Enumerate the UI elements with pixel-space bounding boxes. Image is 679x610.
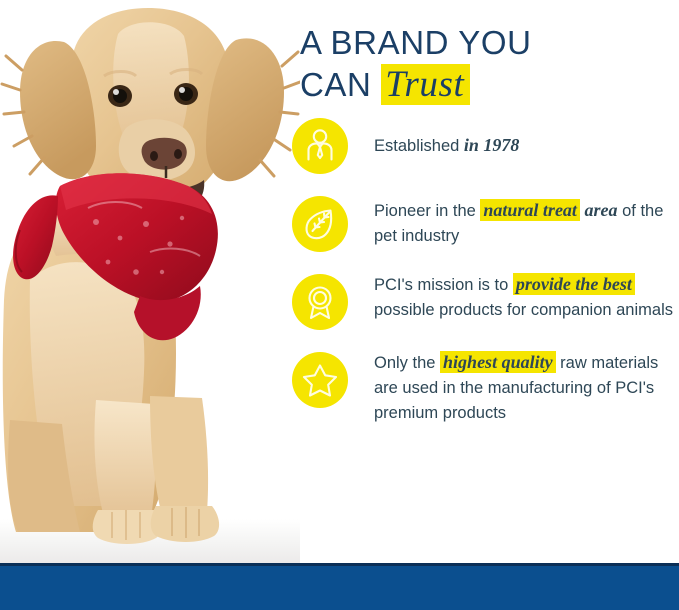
- award-ribbon-icon: [292, 274, 348, 330]
- headline-line-1: A BRAND YOU: [300, 22, 679, 64]
- feature-2-part-0: Pioneer in the: [374, 202, 480, 220]
- page-title: A BRAND YOU CAN Trust: [300, 22, 679, 106]
- feature-4-part-1: highest quality: [440, 351, 556, 373]
- content-column: A BRAND YOU CAN Trust E: [292, 0, 679, 563]
- feature-text-mission: PCI's mission is to provide the best pos…: [374, 272, 679, 323]
- brand-infographic-poster: A BRAND YOU CAN Trust E: [0, 0, 679, 610]
- feature-3-part-1: provide the best: [513, 273, 635, 295]
- feature-item-quality: Only the highest quality raw materials a…: [292, 350, 679, 426]
- feature-4-part-0: Only the: [374, 354, 440, 372]
- feature-text-pioneer: Pioneer in the natural treat area of the…: [374, 194, 679, 249]
- feature-1-part-0: Established: [374, 137, 464, 155]
- headline-line-2: CAN Trust: [300, 64, 679, 106]
- feature-3-part-0: PCI's mission is to: [374, 276, 513, 294]
- headline-line-2-prefix: CAN: [300, 66, 381, 103]
- feature-1-part-1: in 1978: [464, 135, 520, 155]
- feature-3-part-2: possible products for companion animals: [374, 301, 673, 319]
- feature-list: Established in 1978 Pioneer in the natu: [292, 118, 679, 440]
- feature-item-mission: PCI's mission is to provide the best pos…: [292, 272, 679, 330]
- feature-text-established: Established in 1978: [374, 118, 679, 159]
- leaf-icon: [292, 196, 348, 252]
- feature-item-pioneer: Pioneer in the natural treat area of the…: [292, 194, 679, 252]
- puppy-photo: [0, 0, 300, 563]
- feature-item-established: Established in 1978: [292, 118, 679, 174]
- person-tie-icon: [292, 118, 348, 174]
- star-icon: [292, 352, 348, 408]
- feature-2-part-1: natural treat: [480, 199, 580, 221]
- bottom-brand-bar: [0, 566, 679, 610]
- feature-text-quality: Only the highest quality raw materials a…: [374, 350, 679, 426]
- puppy-photo-pane: [0, 0, 300, 563]
- headline-trust-highlight: Trust: [381, 64, 470, 105]
- feature-2-part-3: area: [585, 200, 618, 220]
